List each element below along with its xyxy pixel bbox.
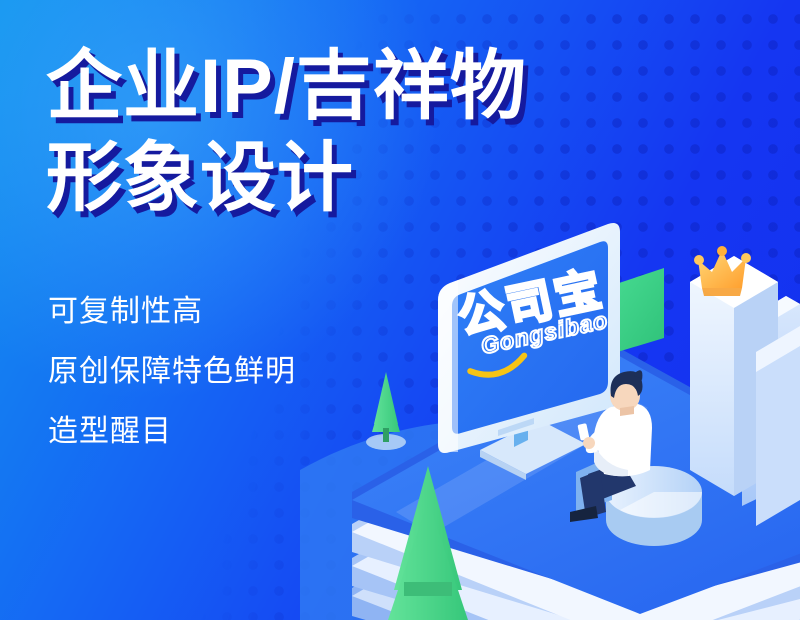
headline-line-2: 形象设计 (46, 140, 527, 218)
feature-item-2: 原创保障特色鲜明 (48, 356, 296, 388)
promo-banner: 公司宝 Gongsibao 企业IP/吉祥物 形象设计 可复制性高 原创保障特色… (0, 0, 800, 620)
feature-item-3: 造型醒目 (48, 416, 296, 448)
feature-item-1: 可复制性高 (48, 296, 296, 328)
tree-small-back (366, 372, 406, 450)
headline-block: 企业IP/吉祥物 形象设计 (46, 48, 527, 218)
feature-list: 可复制性高 原创保障特色鲜明 造型醒目 (48, 296, 296, 448)
headline-line-1: 企业IP/吉祥物 (46, 48, 527, 126)
